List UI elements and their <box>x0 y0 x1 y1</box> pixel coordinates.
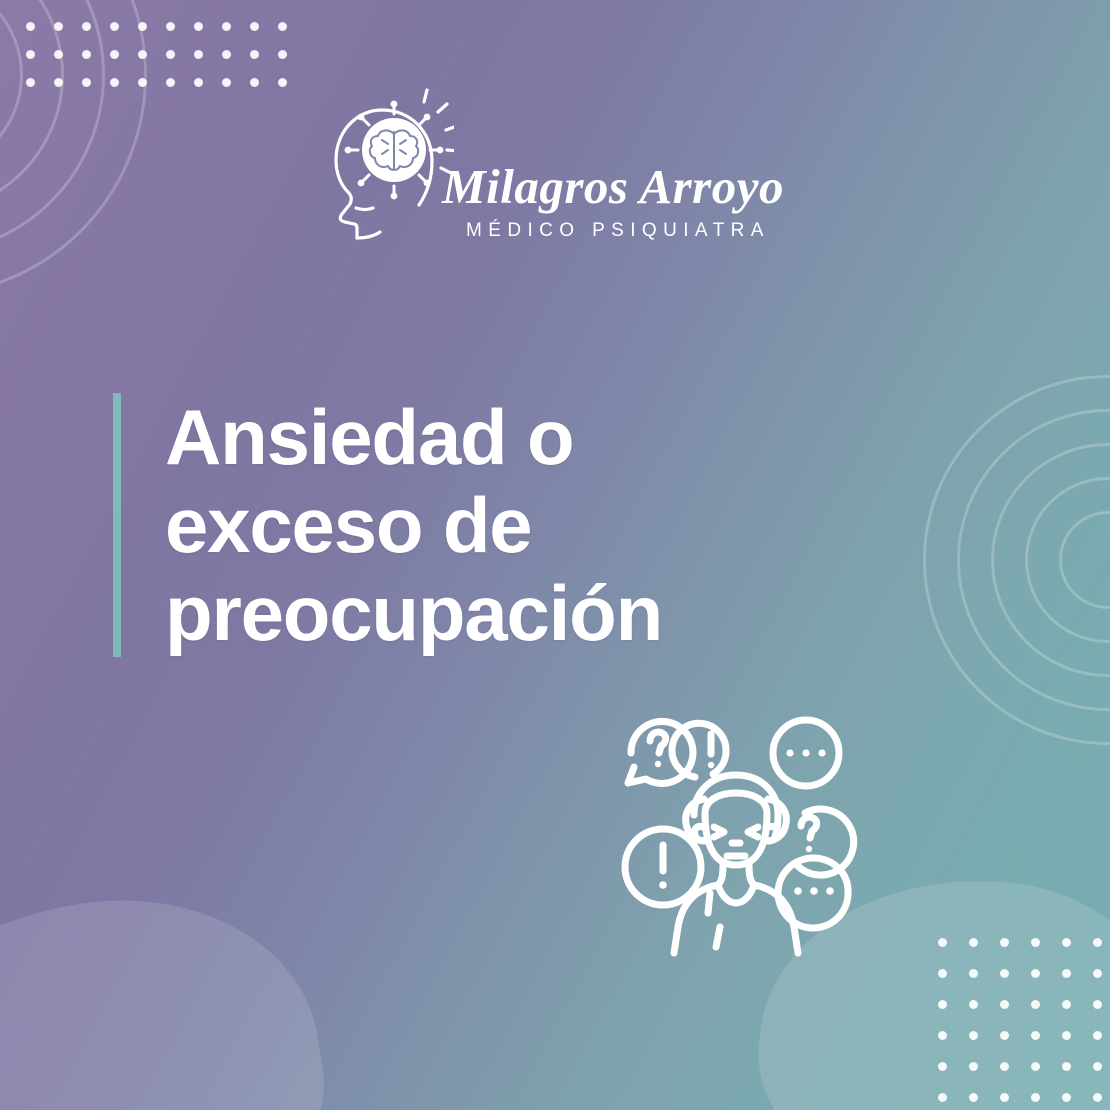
logo-name: Milagros Arroyo <box>442 162 784 211</box>
logo-wordmark: Milagros Arroyo MÉDICO PSIQUIATRA <box>442 162 784 242</box>
dot-grid-bottom-right <box>938 938 1110 1110</box>
accent-bar <box>113 393 121 657</box>
logo-subtitle: MÉDICO PSIQUIATRA <box>466 220 784 242</box>
stressed-person-with-speech-bubbles-icon <box>608 695 880 967</box>
headline-block: Ansiedad o exceso de preocupación <box>113 393 662 657</box>
social-post-canvas: Milagros Arroyo MÉDICO PSIQUIATRA Ansied… <box>0 0 1110 1110</box>
logo-inner: Milagros Arroyo MÉDICO PSIQUIATRA <box>326 88 784 248</box>
brand-logo: Milagros Arroyo MÉDICO PSIQUIATRA <box>0 88 1110 248</box>
blob-bottom-left <box>0 870 343 1110</box>
head-brain-icon <box>326 88 454 248</box>
page-title: Ansiedad o exceso de preocupación <box>121 393 662 657</box>
